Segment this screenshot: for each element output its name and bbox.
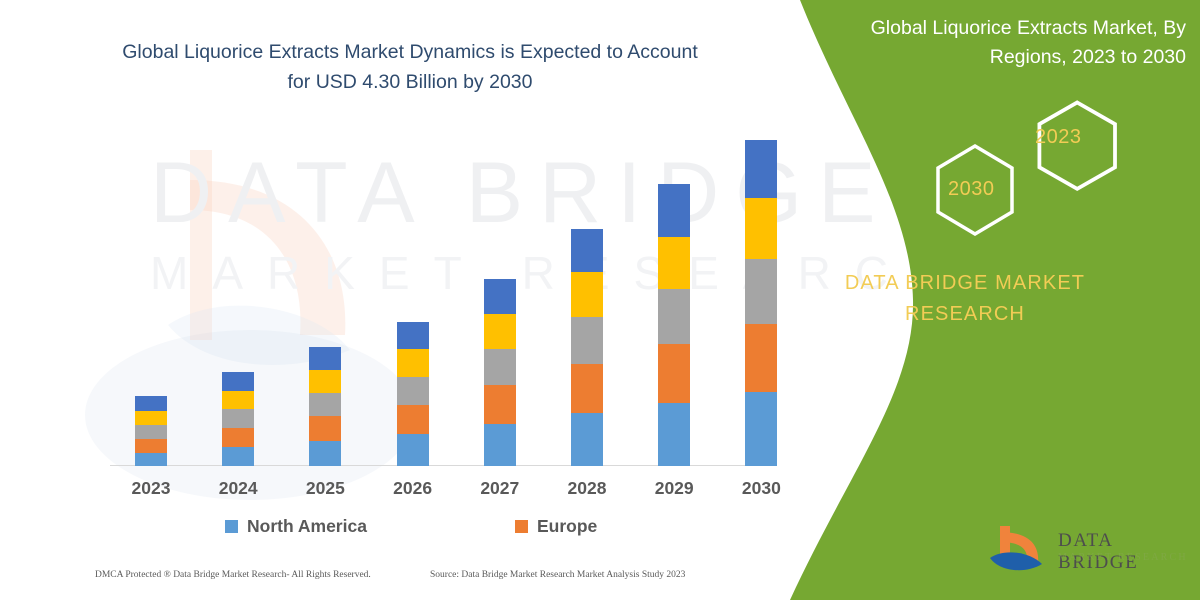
bar-segment [222, 409, 254, 428]
bar-segment [571, 229, 603, 272]
bar-segment [571, 413, 603, 466]
bar-segment [571, 364, 603, 414]
bar-2027 [484, 279, 516, 466]
panel-brand-line1: DATA BRIDGE MARKET [730, 268, 1200, 299]
bar-segment [309, 370, 341, 393]
chart-legend: North AmericaEurope [0, 510, 790, 542]
chart-x-tick-labels: 20232024202520262027202820292030 [0, 478, 800, 506]
bar-segment [658, 403, 690, 466]
legend-label: North America [247, 516, 367, 537]
legend-swatch [515, 520, 528, 533]
x-axis-label-2024: 2024 [198, 478, 278, 499]
bar-segment [309, 347, 341, 370]
chart-plot-area [118, 140, 763, 466]
bar-2029 [658, 184, 690, 466]
bar-segment [484, 314, 516, 350]
infographic-root: DATA BRIDGE MARKET RESEARCH Global Liquo… [0, 0, 1200, 600]
x-axis-label-2026: 2026 [373, 478, 453, 499]
bar-segment [397, 405, 429, 434]
bar-segment [571, 272, 603, 317]
legend-swatch [225, 520, 238, 533]
bar-segment [397, 349, 429, 376]
footer: DMCA Protected ® Data Bridge Market Rese… [0, 566, 790, 592]
bar-segment [309, 393, 341, 416]
panel-brand-line2: RESEARCH [730, 299, 1200, 330]
bar-segment [397, 377, 429, 405]
bar-segment [222, 447, 254, 466]
footer-copyright: DMCA Protected ® Data Bridge Market Rese… [95, 570, 371, 580]
data-bridge-logo: DATA BRIDGE MARKET RESEARCH [988, 522, 1193, 578]
legend-item-north-america[interactable]: North America [225, 516, 367, 537]
panel-title: Global Liquorice Extracts Market, By Reg… [826, 14, 1186, 73]
logo-tagline: MARKET RESEARCH [1058, 552, 1188, 563]
x-axis-label-2023: 2023 [111, 478, 191, 499]
bar-segment [484, 279, 516, 314]
bar-2025 [309, 347, 341, 466]
bar-2024 [222, 372, 254, 466]
hexagon-2030-label: 2030 [948, 178, 995, 201]
bar-segment [658, 289, 690, 344]
bar-segment [484, 385, 516, 424]
bar-segment [222, 428, 254, 447]
bar-segment [309, 416, 341, 440]
bar-segment [135, 396, 167, 411]
hexagon-2023-label: 2023 [1035, 126, 1082, 149]
bar-segment [135, 439, 167, 454]
bar-2026 [397, 322, 429, 466]
bar-segment [484, 424, 516, 466]
bar-segment [135, 411, 167, 426]
bar-segment [658, 184, 690, 237]
legend-item-europe[interactable]: Europe [515, 516, 597, 537]
x-axis-label-2025: 2025 [285, 478, 365, 499]
bar-segment [222, 372, 254, 391]
stacked-bar-chart: 20232024202520262027202820292030 North A… [0, 0, 800, 600]
bar-2023 [135, 396, 167, 466]
x-axis-label-2028: 2028 [547, 478, 627, 499]
hexagon-group: 2023 2030 [730, 96, 1200, 236]
x-axis-label-2029: 2029 [634, 478, 714, 499]
footer-source: Source: Data Bridge Market Research Mark… [430, 570, 685, 580]
bar-segment [397, 322, 429, 349]
bar-segment [135, 425, 167, 439]
bar-segment [571, 317, 603, 363]
bar-segment [397, 434, 429, 466]
x-axis-label-2027: 2027 [460, 478, 540, 499]
bar-segment [484, 349, 516, 385]
bar-segment [658, 237, 690, 290]
bar-segment [222, 391, 254, 409]
panel-brand: DATA BRIDGE MARKET RESEARCH [730, 268, 1200, 330]
data-bridge-b-icon [988, 524, 1050, 576]
legend-label: Europe [537, 516, 597, 537]
bar-2028 [571, 229, 603, 466]
bar-segment [658, 344, 690, 403]
bar-segment [135, 453, 167, 466]
bar-segment [309, 441, 341, 466]
right-green-panel: Global Liquorice Extracts Market, By Reg… [730, 0, 1200, 600]
